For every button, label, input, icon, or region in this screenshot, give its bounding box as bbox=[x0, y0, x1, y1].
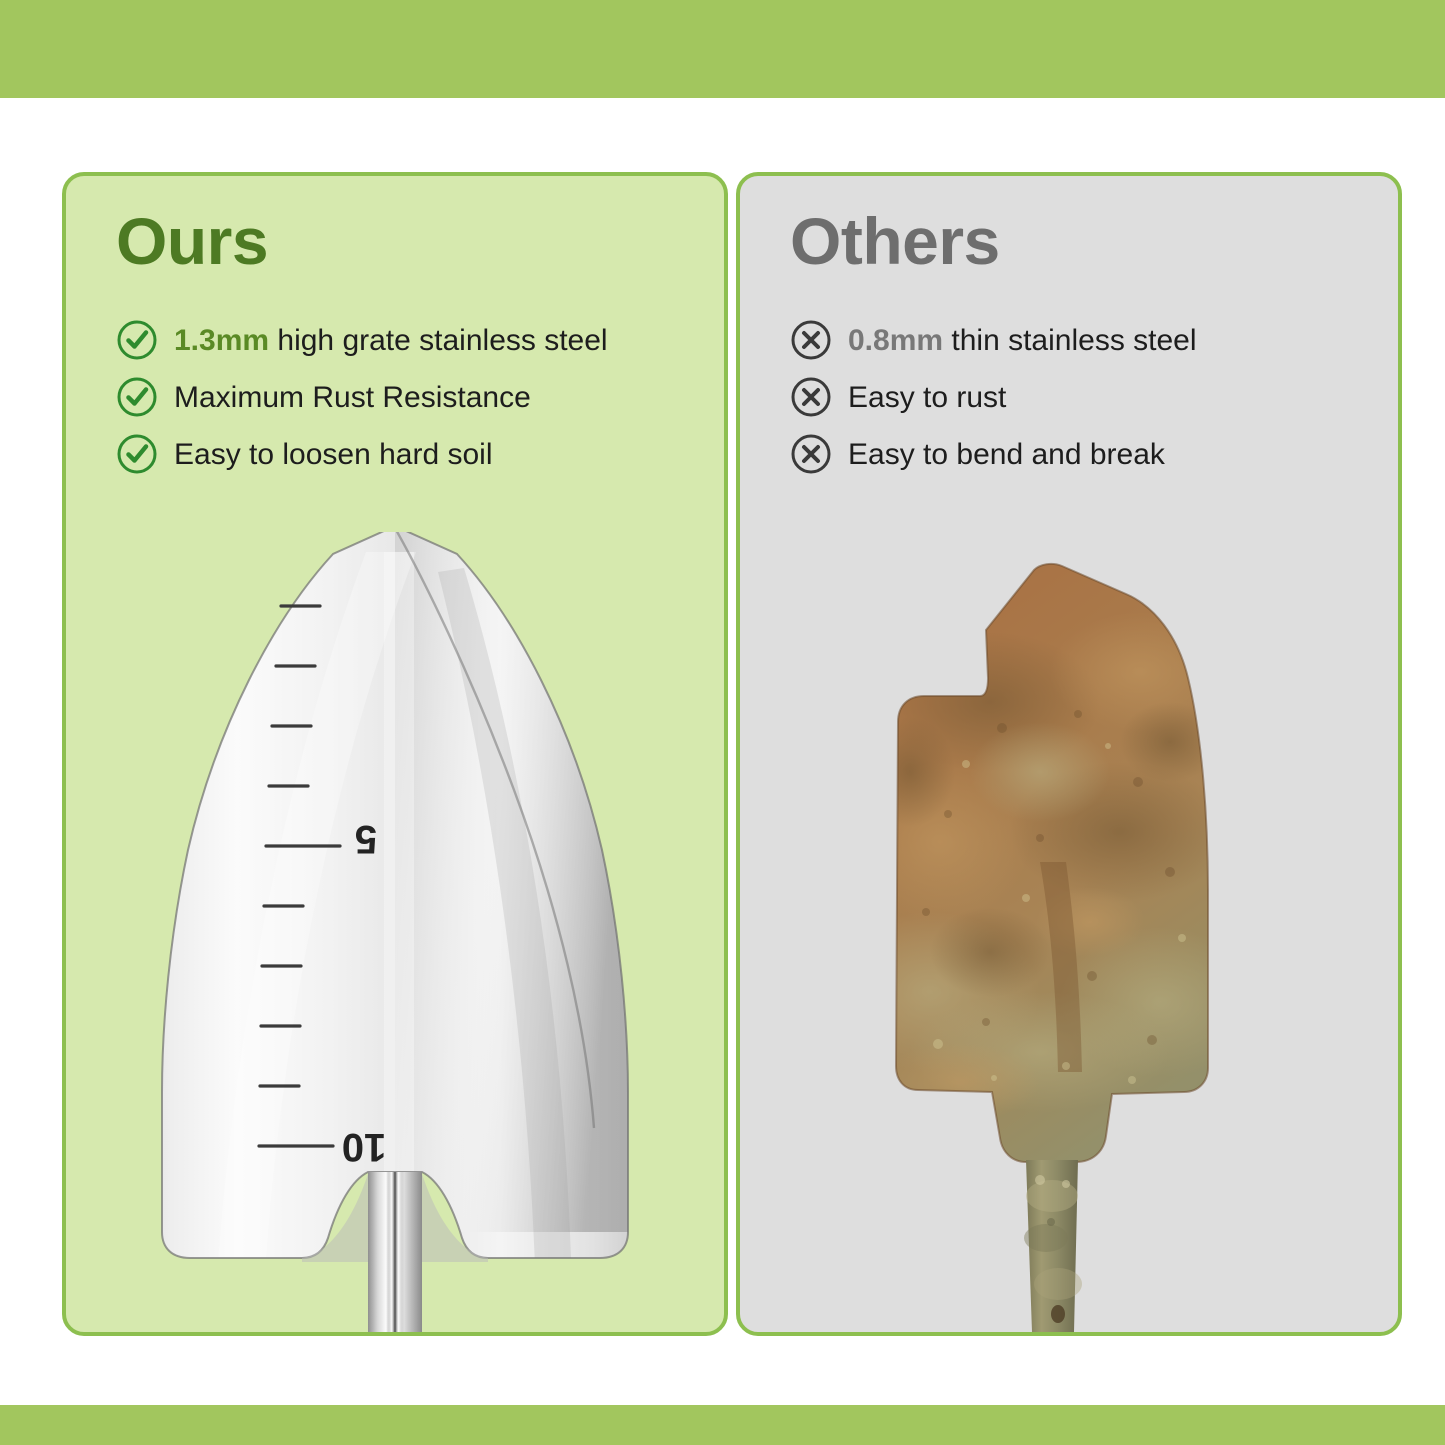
list-item: Easy to bend and break bbox=[790, 426, 1370, 482]
stainless-steel-trowel-blade: 5 10 bbox=[66, 532, 724, 1332]
top-brand-bar bbox=[0, 0, 1445, 98]
feature-highlight: 1.3mm bbox=[174, 324, 269, 357]
feature-rest: Easy to bend and break bbox=[848, 438, 1165, 471]
feature-highlight: 0.8mm bbox=[848, 324, 943, 357]
feature-rest: high grate stainless steel bbox=[269, 324, 608, 357]
list-item: 1.3mm high grate stainless steel bbox=[116, 312, 696, 368]
panel-title-ours: Ours bbox=[116, 208, 268, 274]
ruler-label-10: 10 bbox=[342, 1125, 387, 1169]
x-circle-icon bbox=[790, 433, 832, 475]
feature-text: 1.3mm high grate stainless steel bbox=[174, 324, 608, 357]
ruler-label-5: 5 bbox=[355, 817, 377, 861]
list-item: Easy to rust bbox=[790, 369, 1370, 425]
feature-rest: thin stainless steel bbox=[943, 324, 1196, 357]
trowel-illustration: 5 10 bbox=[66, 532, 724, 1332]
feature-rest: Easy to loosen hard soil bbox=[174, 438, 493, 471]
feature-rest: Maximum Rust Resistance bbox=[174, 381, 531, 414]
panel-title-others: Others bbox=[790, 208, 1000, 274]
x-circle-icon bbox=[790, 319, 832, 361]
rusted-shovel-blade bbox=[740, 532, 1398, 1332]
feature-text: Maximum Rust Resistance bbox=[174, 381, 531, 414]
feature-text: Easy to rust bbox=[848, 381, 1006, 414]
feature-list-ours: 1.3mm high grate stainless steel Maximum… bbox=[116, 312, 696, 483]
feature-list-others: 0.8mm thin stainless steel Easy to rust … bbox=[790, 312, 1370, 483]
feature-text: Easy to bend and break bbox=[848, 438, 1165, 471]
comparison-area: Ours 1.3mm high grate stainless steel Ma… bbox=[0, 98, 1445, 1405]
comparison-panel-others: Others 0.8mm thin stainless steel Easy t… bbox=[736, 172, 1402, 1336]
shank-rivet-hole bbox=[1051, 1305, 1065, 1323]
list-item: Easy to loosen hard soil bbox=[116, 426, 696, 482]
feature-rest: Easy to rust bbox=[848, 381, 1006, 414]
feature-text: Easy to loosen hard soil bbox=[174, 438, 493, 471]
check-circle-icon bbox=[116, 433, 158, 475]
feature-text: 0.8mm thin stainless steel bbox=[848, 324, 1197, 357]
comparison-panel-ours: Ours 1.3mm high grate stainless steel Ma… bbox=[62, 172, 728, 1336]
rusty-shovel-illustration bbox=[740, 532, 1398, 1332]
list-item: 0.8mm thin stainless steel bbox=[790, 312, 1370, 368]
x-circle-icon bbox=[790, 376, 832, 418]
list-item: Maximum Rust Resistance bbox=[116, 369, 696, 425]
check-circle-icon bbox=[116, 376, 158, 418]
check-circle-icon bbox=[116, 319, 158, 361]
bottom-brand-bar bbox=[0, 1405, 1445, 1445]
